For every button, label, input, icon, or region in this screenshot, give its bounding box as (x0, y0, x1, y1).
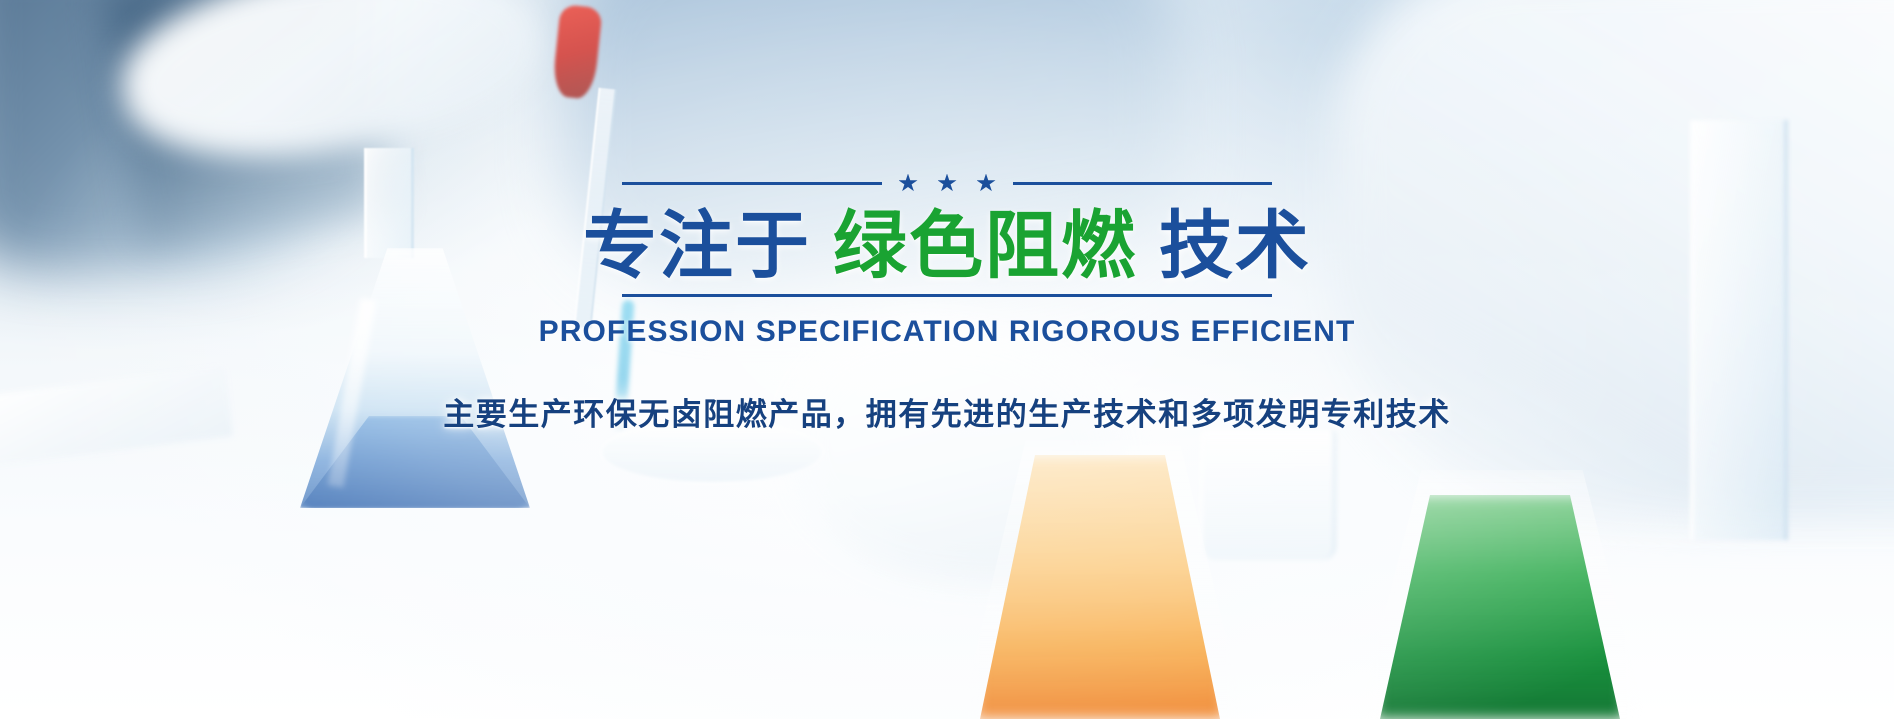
headline-underline (622, 294, 1272, 297)
star-icon (977, 174, 996, 193)
headline-part-3: 技术 (1159, 204, 1311, 287)
headline-part-1: 专注于 (583, 204, 811, 287)
banner-content: 专注于绿色阻燃技术 PROFESSION SPECIFICATION RIGOR… (0, 0, 1894, 719)
star-divider (622, 172, 1272, 194)
divider-stars (899, 174, 996, 193)
headline-part-2: 绿色阻燃 (833, 204, 1137, 287)
hero-banner: 专注于绿色阻燃技术 PROFESSION SPECIFICATION RIGOR… (0, 0, 1894, 719)
divider-rule-right (1013, 182, 1273, 185)
divider-rule-left (622, 182, 882, 185)
tagline-chinese: 主要生产环保无卤阻燃产品，拥有先进的生产技术和多项发明专利技术 (443, 389, 1451, 434)
star-icon (899, 174, 918, 193)
star-icon (938, 174, 957, 193)
subtitle-english: PROFESSION SPECIFICATION RIGOROUS EFFICI… (539, 315, 1356, 349)
headline: 专注于绿色阻燃技术 (583, 206, 1311, 286)
